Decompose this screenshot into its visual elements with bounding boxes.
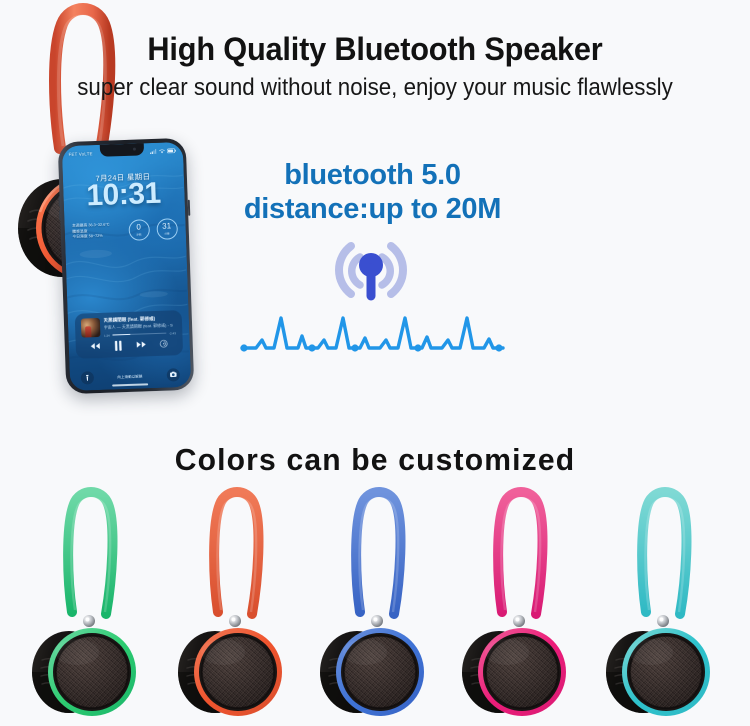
speaker-variant-teal-image [596, 486, 736, 721]
speaker-variant-green-image [22, 486, 162, 721]
carrier-label: FET VoLTE [68, 151, 92, 157]
speaker-variant-blue[interactable] [310, 486, 450, 721]
colors-section-title: Colors can be customized [11, 442, 739, 478]
weather-widget[interactable]: 本週最高 36.3~32.6°C 體感溫度 今日濕度 58~72% [72, 222, 110, 241]
broadcast-signal-icon [306, 232, 436, 312]
activity-ring-caption-0: 步數 [136, 232, 141, 236]
phone-power-button [188, 200, 190, 216]
bluetooth-distance-label: distance:up to 20M [225, 192, 520, 226]
audio-waveform-icon [240, 310, 505, 358]
elapsed-time: 1:24 [104, 333, 110, 337]
activity-ring-caption-1: 分鐘 [164, 231, 169, 235]
track-subtitle: 宇宙人 — 天黑請閉眼 (feat. 郭修彧) - S [104, 322, 176, 331]
speaker-variant-blue-image [310, 486, 450, 721]
flashlight-icon[interactable] [80, 371, 93, 384]
speaker-variant-pink-image [452, 486, 592, 721]
phone-mockup: FET VoLTE [58, 138, 195, 394]
wifi-icon [158, 149, 164, 154]
lock-screen-time: 10:31 [63, 177, 185, 211]
front-camera-icon [133, 148, 136, 151]
forward-button[interactable] [136, 340, 147, 348]
phone-notch [100, 143, 144, 157]
speaker-variant-pink[interactable] [452, 486, 592, 721]
pause-button[interactable] [114, 340, 123, 351]
battery-icon [166, 148, 175, 153]
bluetooth-version-label: bluetooth 5.0 [225, 158, 520, 192]
phone-screen: FET VoLTE [61, 141, 190, 390]
speaker-variant-orange-image [168, 486, 308, 721]
speaker-variant-orange[interactable] [168, 486, 308, 721]
phone-volume-up-button [58, 196, 60, 206]
speaker-variant-teal[interactable] [596, 486, 736, 721]
weather-line-3: 今日濕度 58~72% [72, 234, 110, 241]
airplay-button[interactable] [160, 340, 168, 348]
album-artwork [80, 318, 100, 338]
phone-volume-down-button [59, 210, 61, 220]
lock-screen-widgets: 本週最高 36.3~32.6°C 體感溫度 今日濕度 58~72% 0 步數 3… [72, 216, 178, 246]
cellular-signal-icon [149, 149, 156, 154]
activity-ring-widget-0[interactable]: 0 步數 [128, 219, 150, 241]
progress-bar[interactable] [113, 332, 166, 335]
product-marketing-banner: High Quality Bluetooth Speaker super cle… [0, 0, 750, 726]
rewind-button[interactable] [90, 342, 101, 350]
page-subtitle: super clear sound without noise, enjoy y… [26, 74, 724, 102]
remaining-time: -2:43 [169, 331, 176, 335]
camera-icon[interactable] [166, 368, 179, 381]
activity-ring-widget-1[interactable]: 31 分鐘 [156, 218, 178, 240]
now-playing-widget[interactable]: 天黑請閉眼 (feat. 郭修彧) 宇宙人 — 天黑請閉眼 (feat. 郭修彧… [74, 310, 183, 359]
page-title: High Quality Bluetooth Speaker [15, 31, 735, 68]
bluetooth-callout: bluetooth 5.0 distance:up to 20M [225, 158, 520, 226]
activity-ring-value-0: 0 [136, 224, 141, 232]
activity-ring-value-1: 31 [162, 223, 171, 231]
speaker-variant-green[interactable] [22, 486, 162, 721]
